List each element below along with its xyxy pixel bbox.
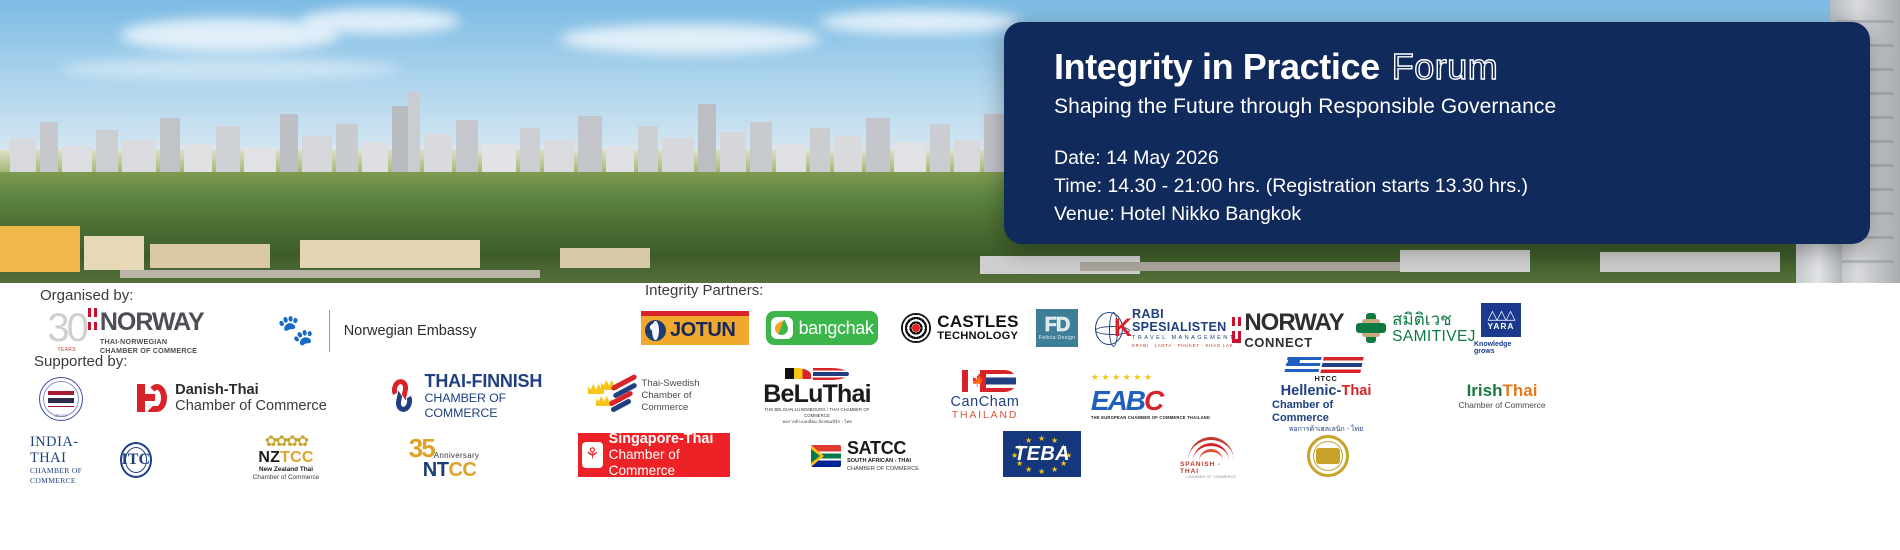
eabc-wordmark-accent: C [1144, 387, 1162, 415]
singapore-lion-icon: ⚘ [582, 442, 603, 468]
jfcct-seal-icon: JFCCT [39, 377, 83, 421]
eabc-wordmark: EAB [1091, 387, 1144, 415]
jfcct-abbr: JFCCT [40, 413, 82, 418]
event-date: Date: 14 May 2026 [1054, 145, 1870, 173]
samitivej-thai-name: สมิติเวช [1392, 311, 1476, 328]
beluthai-flags-icon [779, 368, 855, 382]
logo-india-thai-chamber-of-commerce[interactable]: INDIA-THAI CHAMBER OF COMMERCE ITC [30, 439, 152, 481]
thai-flag-icon [48, 391, 74, 407]
hellenic-thai-line1: Hellenic- [1281, 383, 1342, 399]
event-details: Date: 14 May 2026 Time: 14.30 - 21:00 hr… [1054, 145, 1870, 228]
logo-bangchak[interactable]: bangchak [766, 311, 878, 345]
danish-thai-emblem-icon [137, 382, 167, 414]
krabi-sub1: TRAVEL MANAGEMENT [1132, 334, 1241, 342]
tncc-line2: CHAMBER OF COMMERCE [100, 346, 204, 355]
cancham-line2: THAILAND [952, 410, 1019, 422]
irish-thai-line1-accent: Thai [1502, 381, 1537, 400]
thai-swedish-crowns-icon [588, 378, 636, 414]
irish-thai-line1: Irish [1467, 381, 1503, 400]
hellenic-thai-flags-icon [1286, 356, 1366, 374]
logo-norwegian-embassy[interactable]: 🐾 Norwegian Embassy [262, 307, 492, 355]
eabc-line1: THE EUROPEAN CHAMBER OF COMMERCE THAILAN… [1091, 415, 1210, 420]
label-integrity-partners: Integrity Partners: [645, 282, 763, 299]
event-info-card: Integrity in PracticeForum Shaping the F… [1004, 22, 1870, 244]
logo-irish-thai-chamber-of-commerce[interactable]: IrishThai Chamber of Commerce [1452, 373, 1552, 419]
norway-flag-icon [1232, 317, 1241, 343]
logo-eabc[interactable]: ★ ★ ★ ★ ★ ★ EAB C THE EUROPEAN CHAMBER O… [1088, 371, 1213, 421]
krabi-k-initial: K [1114, 314, 1132, 343]
logo-felicia-design[interactable]: FD Felicia Design [1036, 309, 1078, 347]
spanish-thai-arc-icon [1188, 435, 1234, 461]
logo-teba[interactable]: ★ ★ ★ ★ ★ ★ ★ ★ ★ ★ ★ ★ TEBA [1003, 431, 1081, 477]
jotun-wordmark: JOTUN [670, 319, 735, 342]
norway-wordmark: NORWAY [100, 308, 204, 337]
event-tagline: Shaping the Future through Responsible G… [1054, 95, 1870, 119]
eabc-eu-stars-icon: ★ ★ ★ ★ ★ ★ [1091, 372, 1191, 387]
tncc-line1: THAI-NORWEGIAN [100, 337, 204, 346]
logo-norway-connect[interactable]: NORWAY CONNECT [1229, 308, 1347, 352]
norway-flag-icon [88, 308, 97, 330]
yara-box: △△△ YARA [1481, 303, 1521, 337]
hellenic-thai-line2: Chamber of Commerce [1272, 399, 1380, 425]
logo-castles-technology[interactable]: CASTLES TECHNOLOGY [894, 310, 1026, 346]
fd-monogram: FD [1045, 315, 1070, 335]
bangchak-leaf-icon [771, 317, 793, 339]
logo-satcc[interactable]: SATCC SOUTH AFRICAN - THAI CHAMBER OF CO… [810, 433, 920, 479]
logo-gold-seal-chamber[interactable] [1300, 433, 1356, 479]
irish-thai-line2: Chamber of Commerce [1458, 400, 1545, 411]
spanish-thai-line2: CHAMBER OF COMMERCE [1186, 475, 1236, 479]
nztcc-line2: Chamber of Commerce [253, 474, 319, 482]
cloud [560, 24, 820, 54]
danish-thai-line1: Danish-Thai [175, 382, 327, 398]
south-africa-flag-icon [811, 445, 841, 467]
thai-swedish-line2: Chamber of Commerce [641, 390, 738, 414]
samitivej-cross-icon [1356, 313, 1386, 343]
india-thai-monogram: ITC [122, 451, 150, 469]
cloud [60, 58, 400, 80]
anniversary-30-sub: YEARS [57, 347, 75, 353]
logo-jfcct[interactable]: JFCCT [38, 375, 84, 423]
castles-line1: CASTLES [937, 313, 1018, 330]
anniversary-30-mark: 30 [47, 309, 86, 347]
label-supported-by: Supported by: [34, 353, 127, 370]
logo-thai-finnish-chamber-of-commerce[interactable]: THAI-FINNISH CHAMBER OF COMMERCE [388, 373, 580, 419]
satcc-line1: SOUTH AFRICAN - THAI [847, 458, 919, 465]
nztcc-fern-icon: ✿✿✿✿ [265, 435, 307, 449]
thai-finnish-line1: THAI-FINNISH [425, 372, 580, 391]
logo-jotun[interactable]: JOTUN [641, 311, 749, 345]
felicia-design-label: Felicia Design [1039, 335, 1076, 341]
thai-finnish-line2: CHAMBER OF COMMERCE [425, 391, 580, 421]
event-venue: Venue: Hotel Nikko Bangkok [1054, 201, 1870, 229]
satcc-line2: CHAMBER OF COMMERCE [847, 466, 919, 473]
nztcc-wordmark-accent: TCC [280, 449, 313, 466]
thai-swedish-line1: Thai-Swedish [641, 378, 738, 390]
logo-krabi-spesialisten[interactable]: K RABI SPESIALISTEN TRAVEL MANAGEMENT KR… [1095, 307, 1241, 349]
norwegian-embassy-label: Norwegian Embassy [344, 323, 477, 339]
beluthai-line1: THE BELGIAN-LUXEMBOURG / THAI CHAMBER OF… [752, 407, 882, 419]
gold-seal-icon [1307, 435, 1349, 477]
norway-connect-sub: CONNECT [1244, 335, 1343, 350]
logo-beluthai[interactable]: BeLuThai THE BELGIAN-LUXEMBOURG / THAI C… [752, 371, 882, 421]
hellenic-thai-line1-accent: Thai [1341, 383, 1371, 399]
logo-hellenic-thai-chamber-of-commerce[interactable]: HTCC Hellenic-Thai Chamber of Commerce ห… [1272, 367, 1380, 422]
event-title: Integrity in PracticeForum [1054, 48, 1870, 86]
castles-line2: TECHNOLOGY [937, 330, 1018, 343]
nztcc-line1: New Zealand Thai [259, 466, 313, 474]
castles-target-icon [901, 313, 931, 343]
logo-spanish-thai-chamber-of-commerce[interactable]: SPANISH - THAI CHAMBER OF COMMERCE [1180, 435, 1242, 479]
krabi-sub2: KRABI · LANTA · PHUKET · KHAO LAK [1132, 342, 1241, 349]
cancham-flags-icon: 🍁 [950, 370, 1020, 394]
norway-connect-wordmark: NORWAY [1244, 311, 1343, 335]
satcc-wordmark: SATCC [847, 439, 919, 458]
yara-tagline: Knowledge grows [1474, 341, 1528, 355]
spanish-thai-line1: SPANISH - THAI [1180, 461, 1242, 475]
nztcc-wordmark: NZ [258, 449, 280, 466]
logo-thai-swedish-chamber-of-commerce[interactable]: Thai-Swedish Chamber of Commerce [588, 371, 738, 421]
hellenic-thai-abbr: HTCC [1315, 374, 1338, 383]
cloud [300, 8, 460, 34]
india-thai-line1: INDIA-THAI [30, 434, 115, 466]
beluthai-line2: หอการค้าเบลเยียม ลักเซมเบิร์ก - ไทย [782, 419, 852, 425]
hero-banner-image: Integrity in PracticeForum Shaping the F… [0, 0, 1900, 283]
samitivej-wordmark: SAMITIVEJ [1392, 328, 1476, 345]
ntcc-wordmark-accent: CC [448, 459, 476, 481]
label-organised-by: Organised by: [40, 287, 133, 304]
logo-samitivej[interactable]: สมิติเวช SAMITIVEJ [1350, 307, 1482, 349]
singapore-thai-line2: Chamber of Commerce [609, 447, 730, 479]
cloud [820, 10, 1020, 34]
singapore-thai-line1: Singapore-Thai [609, 431, 730, 447]
sponsors-area: Organised by: Integrity Partners: Suppor… [0, 283, 1900, 550]
event-time: Time: 14.30 - 21:00 hrs. (Registration s… [1054, 173, 1870, 201]
yara-viking-ship-icon: △△△ [1488, 309, 1515, 321]
cancham-line1: CanCham [951, 394, 1020, 410]
danish-thai-line2: Chamber of Commerce [175, 398, 327, 415]
logo-singapore-thai-chamber-of-commerce[interactable]: ⚘ Singapore-Thai Chamber of Commerce [578, 433, 730, 477]
india-thai-seal-icon: ITC [120, 442, 152, 478]
event-title-main: Integrity in Practice [1054, 46, 1380, 87]
teba-wordmark: TEBA [1014, 443, 1070, 466]
logo-yara[interactable]: △△△ YARA Knowledge grows [1474, 303, 1528, 355]
logo-ntcc-35-anniversary[interactable]: 35 Anniversary NTCC [392, 435, 496, 481]
event-title-forum: Forum [1392, 46, 1499, 87]
bangchak-wordmark: bangchak [799, 318, 874, 339]
logo-cancham-thailand[interactable]: 🍁 CanCham THAILAND [930, 371, 1040, 421]
logo-nztcc[interactable]: ✿✿✿✿ NZTCC New Zealand Thai Chamber of C… [238, 435, 334, 481]
jotun-penguin-globe-icon [645, 320, 666, 341]
ntcc-anniversary-number: 35 [409, 436, 434, 460]
norwegian-lion-crest-icon: 🐾 [277, 316, 314, 346]
logo-danish-thai-chamber-of-commerce[interactable]: Danish-Thai Chamber of Commerce [134, 375, 330, 421]
logo-thai-norwegian-chamber-of-commerce[interactable]: 30 YEARS NORWAY THAI-NORWEGIAN CHAMBER O… [38, 308, 213, 354]
india-thai-line2: CHAMBER OF COMMERCE [30, 466, 115, 486]
beluthai-wordmark: BeLuThai [763, 382, 871, 407]
krabi-wordmark: RABI SPESIALISTEN [1132, 308, 1241, 334]
yara-wordmark: YARA [1488, 321, 1515, 331]
thai-finnish-emblem-icon [388, 379, 418, 413]
ntcc-wordmark: NT [423, 459, 449, 481]
divider [329, 310, 330, 352]
